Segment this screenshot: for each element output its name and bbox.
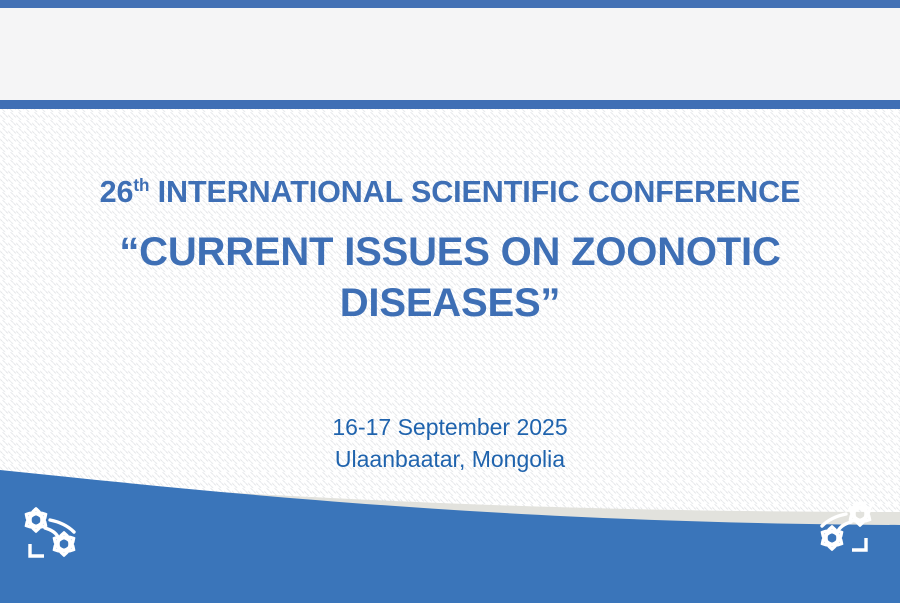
triquetra-knot-icon-left — [14, 498, 94, 575]
conference-edition-heading: 26th INTERNATIONAL SCIENTIFIC CONFERENCE — [0, 175, 900, 210]
logo-header-band — [0, 8, 900, 100]
conference-title-slide: GOVERNMENT OF MONGOLIA MINISTRY OF HEALT… — [0, 0, 900, 603]
conference-theme-title: “CURRENT ISSUES ON ZOONOTIC DISEASES” — [50, 227, 850, 329]
conference-number: 26 — [100, 175, 134, 209]
conference-ordinal-suffix: th — [133, 176, 149, 195]
wave-divider-icon — [0, 468, 900, 603]
triquetra-knot-icon-right — [802, 492, 882, 569]
conference-heading-text: INTERNATIONAL SCIENTIFIC CONFERENCE — [158, 175, 801, 209]
top-accent-bar — [0, 0, 900, 8]
conference-date: 16-17 September 2025 — [0, 412, 900, 444]
header-separator-rule — [0, 100, 900, 109]
